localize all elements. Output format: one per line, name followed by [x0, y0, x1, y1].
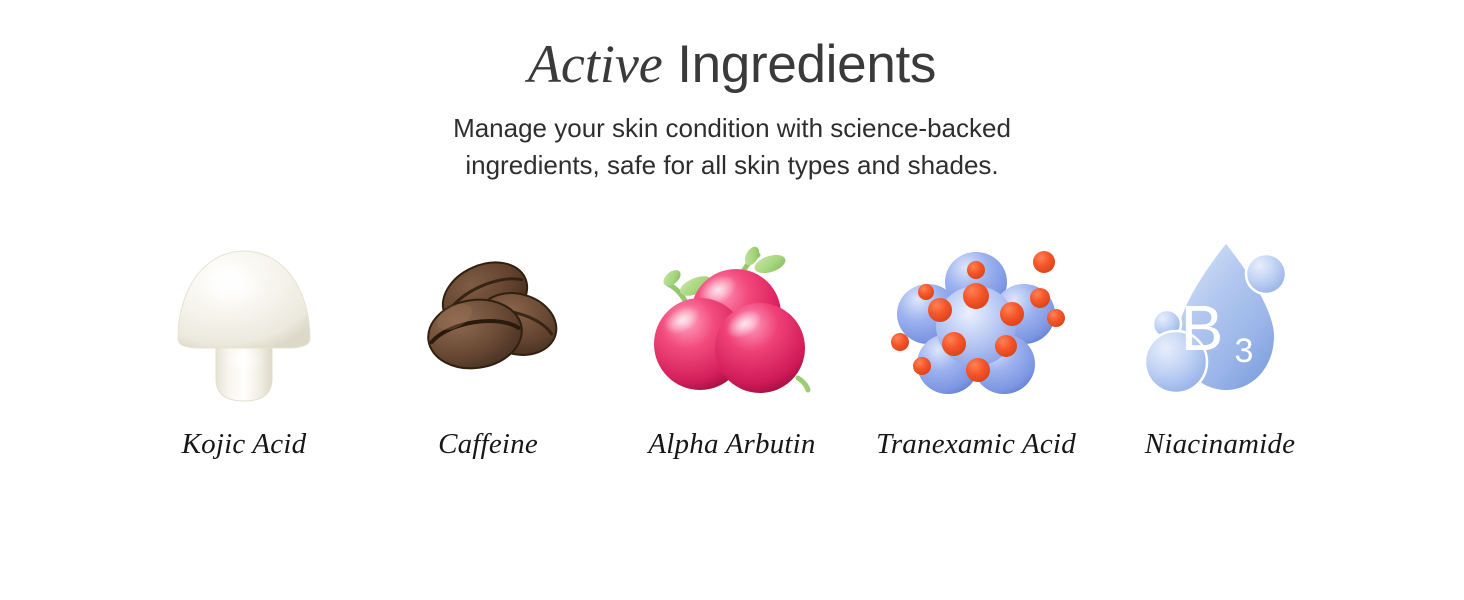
- ingredient-item-tranexamic-acid: Tranexamic Acid: [854, 236, 1098, 461]
- ingredient-item-niacinamide: B 3 Niacinamide: [1098, 236, 1342, 461]
- berries-icon: [647, 236, 817, 408]
- page-title-plain-word: Ingredients: [663, 35, 936, 94]
- page-subtitle: Manage your skin condition with science-…: [0, 110, 1464, 184]
- page-subtitle-line-2: ingredients, safe for all skin types and…: [0, 147, 1464, 184]
- page-title: Active Ingredients: [0, 36, 1464, 93]
- ingredient-label: Caffeine: [438, 428, 538, 461]
- page-subtitle-line-1: Manage your skin condition with science-…: [0, 110, 1464, 147]
- ingredient-item-alpha-arbutin: Alpha Arbutin: [610, 236, 854, 461]
- ingredient-label: Alpha Arbutin: [648, 428, 815, 461]
- ingredient-item-kojic-acid: Kojic Acid: [122, 236, 366, 461]
- mushroom-icon: [159, 236, 329, 408]
- niacinamide-droplet-icon: B 3: [1135, 236, 1305, 408]
- ingredient-list: Kojic Acid: [0, 236, 1464, 496]
- ingredient-item-caffeine: Caffeine: [366, 236, 610, 461]
- vitamin-letter: B: [1181, 292, 1224, 364]
- vitamin-number: 3: [1235, 332, 1254, 370]
- ingredient-label: Niacinamide: [1145, 428, 1295, 461]
- coffee-beans-icon: [403, 236, 573, 408]
- page-title-italic-word: Active: [528, 34, 663, 94]
- ingredient-label: Kojic Acid: [182, 428, 307, 461]
- header: Active Ingredients Manage your skin cond…: [0, 36, 1464, 184]
- ingredient-label: Tranexamic Acid: [876, 428, 1076, 461]
- active-ingredients-banner: Active Ingredients Manage your skin cond…: [0, 0, 1464, 600]
- bubble-top-right: [1246, 254, 1286, 294]
- molecule-icon: [891, 236, 1061, 408]
